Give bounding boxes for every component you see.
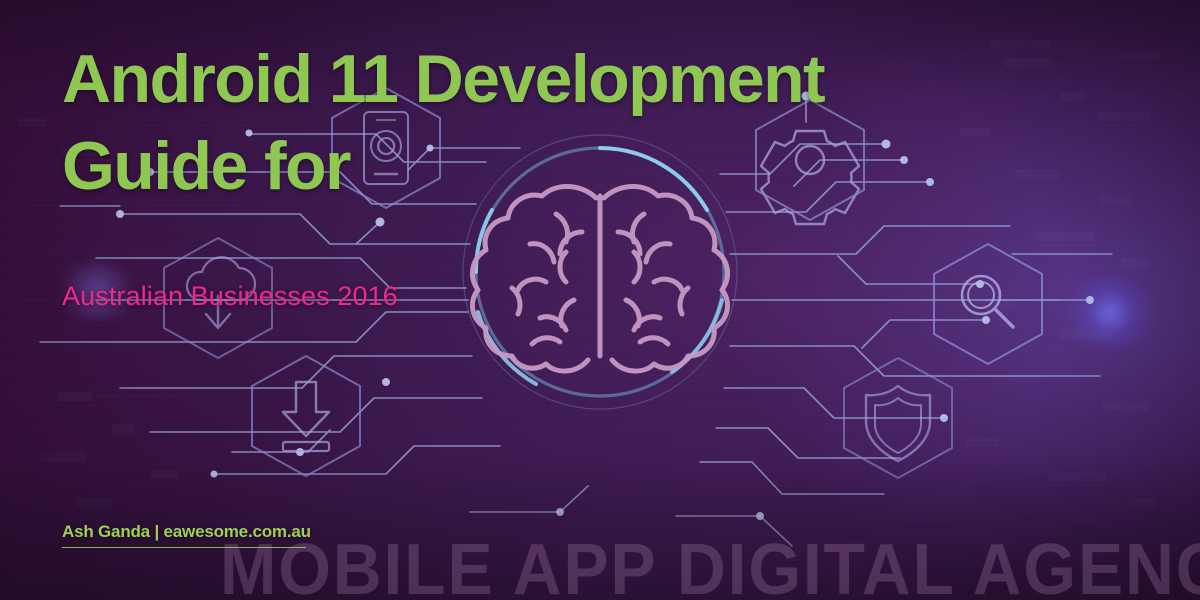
byline-underline [62, 547, 306, 548]
watermark-text: MOBILE APP DIGITAL AGENCY [220, 534, 1141, 600]
page-title: Android 11 Development Guide for [62, 46, 962, 199]
promo-banner: MOBILE APP DIGITAL AGENCY Android 11 Dev… [0, 0, 1200, 600]
byline-text[interactable]: Ash Ganda | eawesome.com.au [62, 522, 311, 542]
byline: Ash Ganda | eawesome.com.au [62, 522, 311, 548]
title-line-1: Android 11 Development [62, 46, 962, 113]
page-subtitle: Australian Businesses 2016 [62, 281, 398, 312]
title-line-2: Guide for [62, 133, 962, 200]
